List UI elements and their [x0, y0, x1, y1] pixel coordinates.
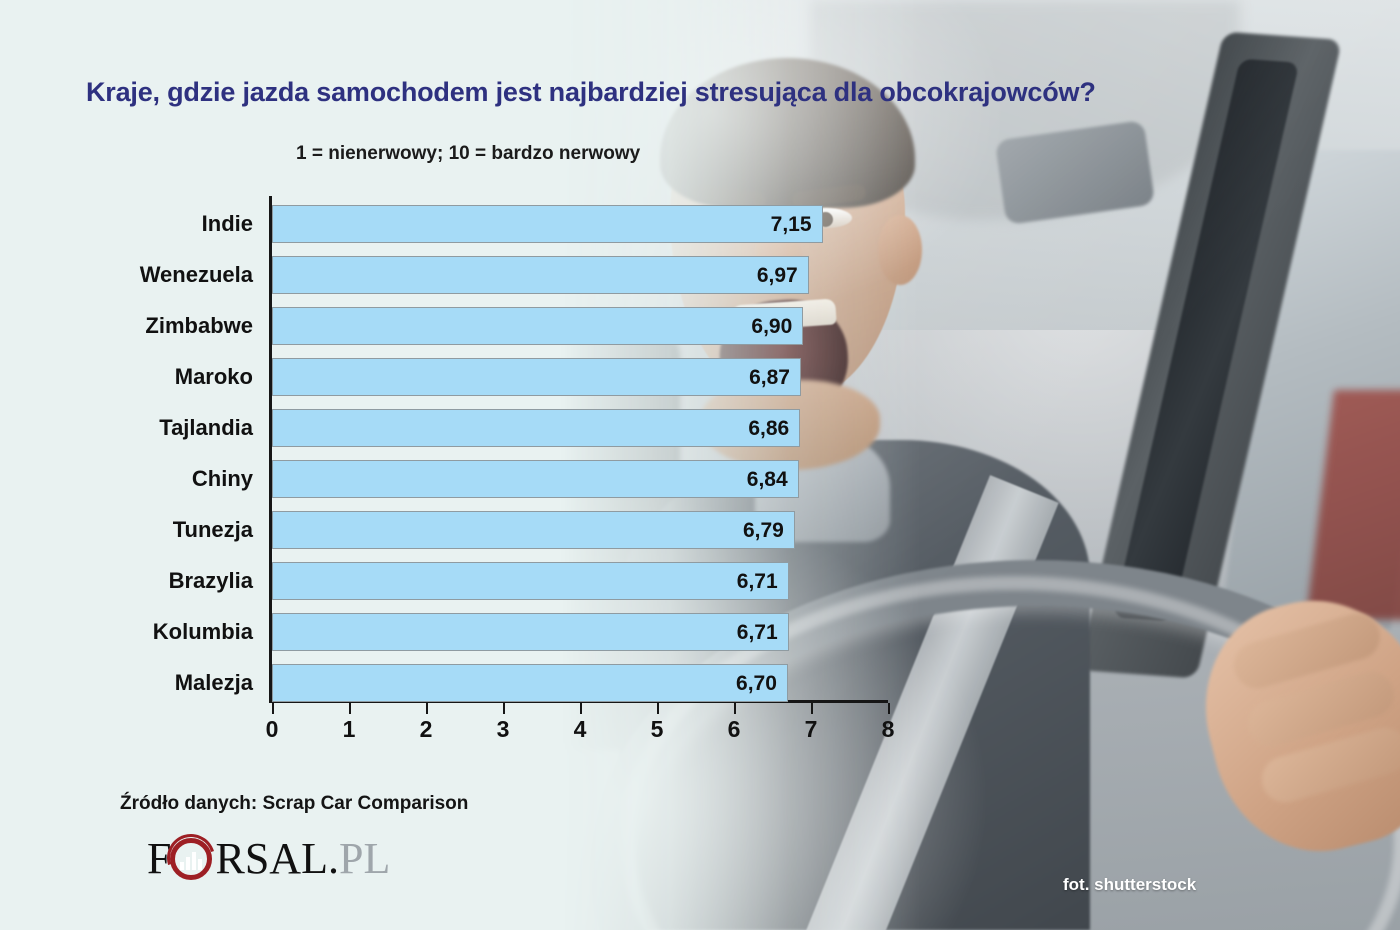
bar-row: Maroko6,87: [272, 358, 888, 396]
x-tick-mark: [426, 703, 428, 714]
bar: 7,15: [272, 205, 823, 243]
bar-row: Zimbabwe6,90: [272, 307, 888, 345]
logo-dot: .: [328, 837, 339, 881]
x-tick-label: 2: [406, 716, 446, 743]
bar-row: Indie7,15: [272, 205, 888, 243]
x-tick-label: 0: [252, 716, 292, 743]
bar-value-label: 6,71: [737, 563, 778, 601]
photo-credit: fot. shutterstock: [1063, 875, 1196, 895]
x-tick-label: 4: [560, 716, 600, 743]
bar: 6,86: [272, 409, 800, 447]
bar: 6,79: [272, 511, 795, 549]
logo-letters-rsal: RSAL: [215, 837, 327, 881]
bar-row: Wenezuela6,97: [272, 256, 888, 294]
bar-row: Malezja6,70: [272, 664, 888, 702]
bar-row: Tunezja6,79: [272, 511, 888, 549]
chart-subtitle: 1 = nienerwowy; 10 = bardzo nerwowy: [296, 143, 640, 165]
category-label: Wenezuela: [140, 256, 253, 294]
x-tick-label: 6: [714, 716, 754, 743]
category-label: Kolumbia: [153, 613, 253, 651]
bar-value-label: 6,71: [737, 614, 778, 652]
forsal-logo[interactable]: F RSAL . PL: [147, 836, 390, 882]
bar: 6,97: [272, 256, 809, 294]
bar-value-label: 6,84: [747, 461, 788, 499]
bar-row: Tajlandia6,86: [272, 409, 888, 447]
bar: 6,90: [272, 307, 803, 345]
bar-value-label: 6,87: [749, 359, 790, 397]
x-tick-mark: [580, 703, 582, 714]
category-label: Tajlandia: [159, 409, 253, 447]
x-tick-label: 3: [483, 716, 523, 743]
x-tick-label: 7: [791, 716, 831, 743]
category-label: Chiny: [192, 460, 253, 498]
bar-value-label: 6,79: [743, 512, 784, 550]
x-tick-mark: [888, 703, 890, 714]
x-tick-mark: [349, 703, 351, 714]
bar: 6,71: [272, 613, 789, 651]
x-tick-mark: [272, 703, 274, 714]
logo-chart-circle-icon: [168, 836, 214, 882]
x-tick-mark: [503, 703, 505, 714]
x-tick-mark: [811, 703, 813, 714]
category-label: Tunezja: [173, 511, 253, 549]
category-label: Zimbabwe: [145, 307, 253, 345]
bar: 6,87: [272, 358, 801, 396]
bar: 6,71: [272, 562, 789, 600]
x-tick-label: 5: [637, 716, 677, 743]
logo-letters-pl: PL: [339, 837, 390, 881]
bar-value-label: 6,97: [757, 257, 798, 295]
x-tick-label: 1: [329, 716, 369, 743]
category-label: Malezja: [175, 664, 253, 702]
x-tick-mark: [734, 703, 736, 714]
bar-row: Kolumbia6,71: [272, 613, 888, 651]
category-label: Brazylia: [169, 562, 253, 600]
bar-chart-plot-area: 012345678 Indie7,15Wenezuela6,97Zimbabwe…: [272, 198, 888, 700]
infographic-root: Kraje, gdzie jazda samochodem jest najba…: [0, 0, 1400, 930]
x-tick-mark: [657, 703, 659, 714]
x-tick-label: 8: [868, 716, 908, 743]
category-label: Maroko: [175, 358, 253, 396]
bar-value-label: 6,86: [748, 410, 789, 448]
bar-value-label: 7,15: [771, 206, 812, 244]
bar: 6,84: [272, 460, 799, 498]
data-source-note: Źródło danych: Scrap Car Comparison: [120, 793, 468, 815]
bar-row: Chiny6,84: [272, 460, 888, 498]
bar-value-label: 6,90: [751, 308, 792, 346]
bar-row: Brazylia6,71: [272, 562, 888, 600]
category-label: Indie: [202, 205, 253, 243]
bar-value-label: 6,70: [736, 665, 777, 703]
bar: 6,70: [272, 664, 788, 702]
page-title: Kraje, gdzie jazda samochodem jest najba…: [86, 77, 1096, 108]
